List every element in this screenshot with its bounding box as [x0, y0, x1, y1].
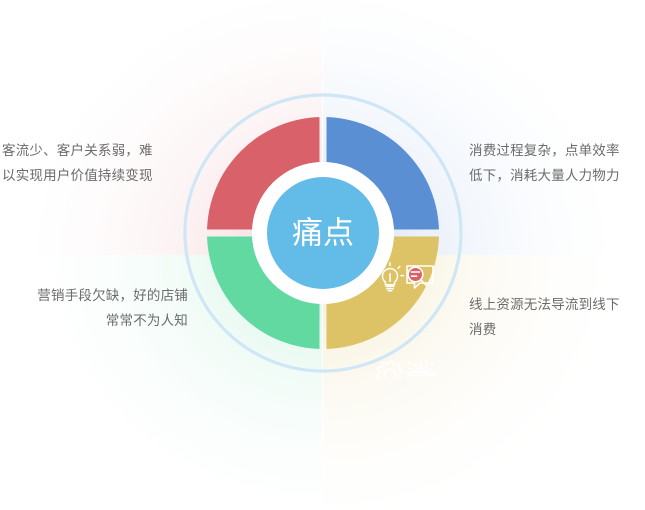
label-top-left: 客流少、客户关系弱，难 以实现用户价值持续变现: [2, 138, 188, 188]
gear-icon: [376, 361, 402, 378]
gift-sparkle-icon: [406, 360, 436, 378]
infographic-canvas: 痛点: [0, 0, 645, 510]
center-label: 痛点: [292, 216, 354, 251]
label-top-right: 消费过程复杂，点单效率 低下，消耗大量人力物力: [469, 138, 645, 188]
label-bottom-left: 营销手段欠缺，好的店铺 常常不为人知: [2, 283, 188, 333]
label-bottom-right: 线上资源无法导流到线下 消费: [469, 292, 645, 342]
donut-diagram: 痛点: [178, 88, 468, 378]
